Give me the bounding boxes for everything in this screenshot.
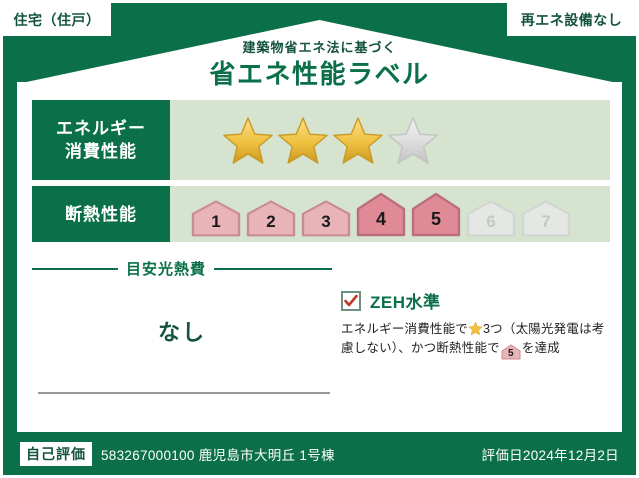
tag-building-type-label: 住宅（住戸） [14, 10, 101, 30]
title-block: 建築物省エネ法に基づく 省エネ性能ラベル [0, 40, 639, 90]
utility-cost-heading-label: 目安光熱費 [126, 258, 206, 279]
zeh-heading: ZEH水準 [341, 288, 609, 313]
row-insulation-performance: 断熱性能 1234567 [32, 186, 610, 242]
row-energy-performance-body [170, 100, 610, 180]
tag-renewable-energy-label: 再エネ設備なし [521, 10, 623, 30]
insulation-level-6: 6 [465, 199, 517, 237]
insulation-level-5: 5 [410, 191, 462, 237]
insulation-level-7: 7 [520, 199, 572, 237]
heading-rule-left [32, 268, 118, 270]
insulation-badge-value: 5 [501, 344, 521, 364]
star-filled-icon [222, 115, 274, 165]
insulation-badge-icon: 5 [501, 344, 521, 360]
tag-building-type: 住宅（住戸） [3, 3, 111, 36]
insulation-level-value: 2 [266, 213, 275, 237]
zeh-block: ZEH水準 エネルギー消費性能で 3つ（太陽光発電は考慮しない）、かつ断熱性能で… [341, 288, 609, 360]
zeh-desc-part1: エネルギー消費性能で [341, 322, 468, 336]
insulation-level-value: 4 [376, 210, 386, 237]
utility-cost-heading: 目安光熱費 [32, 258, 332, 279]
star-empty-icon [387, 115, 439, 165]
tag-renewable-energy: 再エネ設備なし [507, 3, 636, 36]
utility-cost-value: なし [32, 315, 332, 347]
row-insulation-performance-label: 断熱性能 [32, 186, 170, 242]
rating-rows: エネルギー 消費性能 断熱性能 1234567 [32, 100, 610, 248]
star-icon [468, 321, 483, 336]
insulation-level-scale: 1234567 [190, 191, 572, 237]
footer-evaluation-date: 評価日2024年12月2日 [482, 444, 619, 464]
star-filled-icon [332, 115, 384, 165]
row-energy-performance: エネルギー 消費性能 [32, 100, 610, 180]
utility-cost-divider [38, 392, 330, 394]
zeh-description: エネルギー消費性能で 3つ（太陽光発電は考慮しない）、かつ断熱性能で 5 を達成 [341, 320, 609, 360]
insulation-level-value: 3 [321, 213, 330, 237]
page-title: 省エネ性能ラベル [0, 58, 639, 90]
row-insulation-label: 断熱性能 [65, 203, 137, 226]
zeh-desc-part3: を達成 [522, 341, 560, 355]
title-subtitle: 建築物省エネ法に基づく [0, 40, 639, 56]
row-energy-label-line2: 消費性能 [65, 140, 137, 163]
insulation-level-value: 5 [431, 210, 441, 237]
footer-id-address: 583267000100 鹿児島市大明丘 1号棟 [101, 444, 335, 464]
insulation-level-1: 1 [190, 199, 242, 237]
insulation-level-4: 4 [355, 191, 407, 237]
row-insulation-performance-body: 1234567 [170, 186, 610, 242]
row-energy-label-line1: エネルギー [56, 117, 146, 140]
heading-rule-right [214, 268, 332, 270]
zeh-title: ZEH水準 [370, 288, 441, 313]
insulation-level-3: 3 [300, 199, 352, 237]
insulation-level-value: 6 [486, 213, 495, 237]
check-icon [341, 291, 361, 311]
star-filled-icon [277, 115, 329, 165]
insulation-level-value: 7 [541, 213, 550, 237]
insulation-level-2: 2 [245, 199, 297, 237]
energy-performance-label: 住宅（住戸） 再エネ設備なし 建築物省エネ法に基づく 省エネ性能ラベル エネルギ… [0, 0, 639, 478]
utility-cost-block: 目安光熱費 なし [32, 258, 332, 347]
star-rating [222, 115, 439, 165]
footer: 自己評価 583267000100 鹿児島市大明丘 1号棟 評価日2024年12… [3, 432, 636, 475]
insulation-level-value: 1 [211, 213, 220, 237]
self-evaluation-badge: 自己評価 [20, 442, 92, 466]
row-energy-performance-label: エネルギー 消費性能 [32, 100, 170, 180]
